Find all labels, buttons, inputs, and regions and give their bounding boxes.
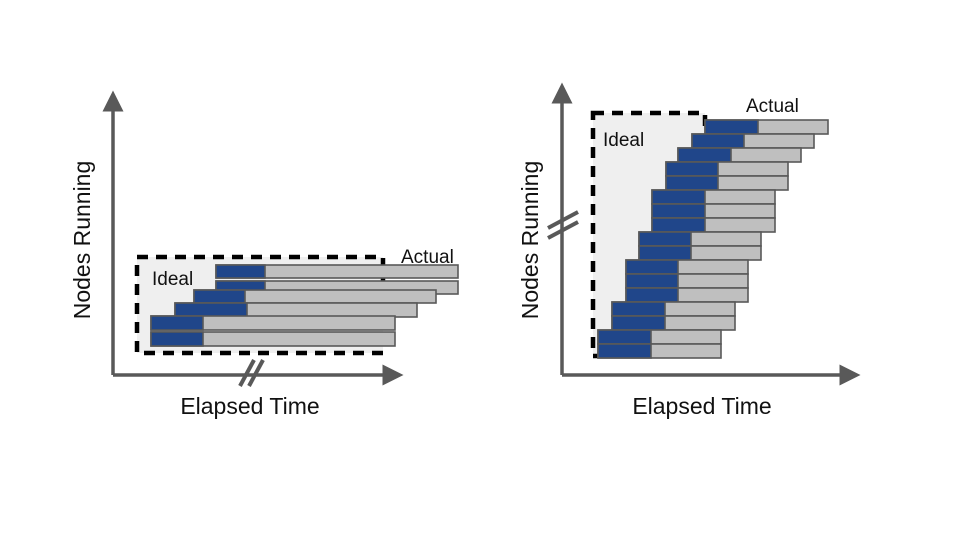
bar-row [705,120,828,134]
bar-blue-segment [705,120,758,134]
bar-row [639,246,761,260]
bar-row [598,344,721,358]
bar-row [175,303,417,317]
right-y-axis-title: Nodes Running [517,161,543,320]
bar-row [626,288,748,302]
bar-row [652,204,775,218]
bar-blue-segment [175,303,247,317]
left-x-axis-title: Elapsed Time [180,393,319,419]
bar-row [652,190,775,204]
bar-blue-segment [612,302,665,316]
left-panel: Ideal Actual Elapsed Time Nodes Running [69,108,458,419]
left-x-axis-break-icon [240,360,263,386]
bar-blue-segment [652,204,705,218]
bar-row [151,332,395,346]
bar-row [678,148,801,162]
bar-row [612,302,735,316]
bar-blue-segment [692,134,744,148]
bar-blue-segment [639,246,691,260]
right-panel: Ideal Actual Elapsed Time Nodes Running [517,96,843,419]
bar-blue-segment [652,218,705,232]
bar-blue-segment [652,190,705,204]
bar-row [626,260,748,274]
bar-blue-segment [639,232,691,246]
bar-blue-segment [666,176,718,190]
bar-row [639,232,761,246]
bar-row [652,218,775,232]
bar-blue-segment [666,162,718,176]
bar-blue-segment [678,148,731,162]
bar-blue-segment [626,260,678,274]
bar-row [666,162,788,176]
bar-blue-segment [151,316,203,330]
bar-blue-segment [598,344,651,358]
right-actual-label: Actual [746,96,799,117]
bar-blue-segment [194,290,245,303]
bar-blue-segment [151,332,203,346]
bar-row [612,316,735,330]
figure-root: Ideal Actual Elapsed Time Nodes Running [0,0,960,540]
bar-blue-segment [216,265,265,278]
bar-blue-segment [626,274,678,288]
bar-row [194,290,436,303]
bar-row [151,316,395,330]
right-ideal-label: Ideal [603,130,644,151]
bar-blue-segment [626,288,678,302]
left-y-axis-title: Nodes Running [69,161,95,320]
bar-row [666,176,788,190]
bar-row [598,330,721,344]
right-x-axis-title: Elapsed Time [632,393,771,419]
bar-row [692,134,814,148]
bar-blue-segment [612,316,665,330]
left-ideal-label: Ideal [152,269,193,290]
left-actual-label: Actual [401,247,454,268]
bar-blue-segment [598,330,651,344]
figure-canvas: Ideal Actual Elapsed Time Nodes Running [0,0,960,540]
bar-row [626,274,748,288]
